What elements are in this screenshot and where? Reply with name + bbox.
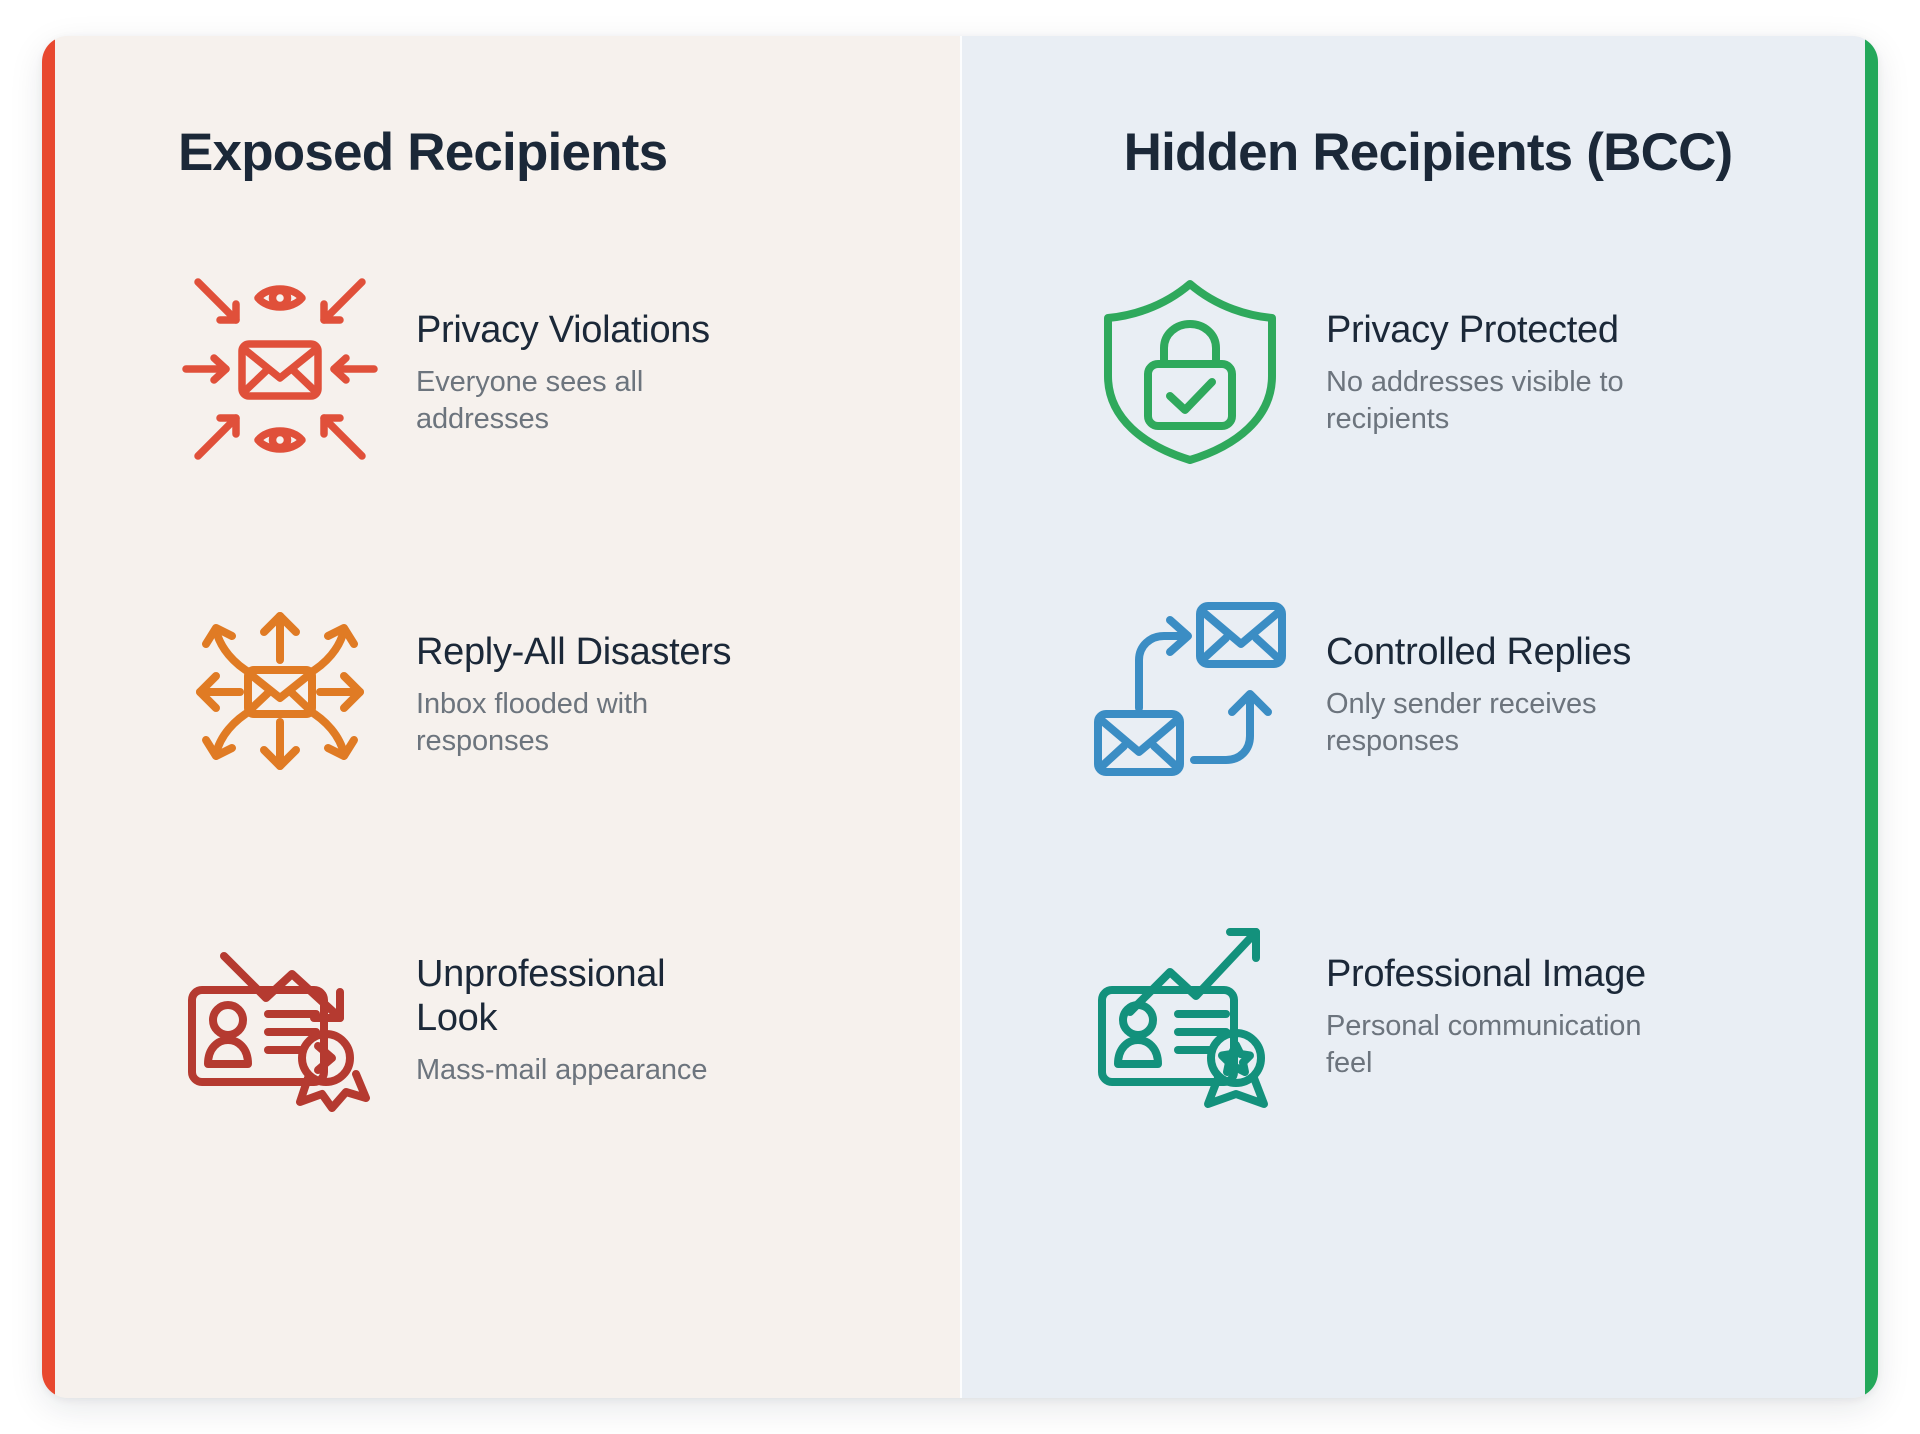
infographic-canvas: Exposed Recipients — [0, 0, 1920, 1434]
feature-description: Personal communication feel — [1326, 1008, 1656, 1082]
comparison-card: Exposed Recipients — [42, 36, 1878, 1398]
shield-lock-check-icon — [1090, 268, 1290, 468]
feature-title: Controlled Replies — [1326, 630, 1656, 674]
feature-description: Inbox flooded with responses — [416, 686, 746, 760]
feature-text-block: Professional Image Personal communicatio… — [1326, 912, 1656, 1082]
right-panel-title: Hidden Recipients (BCC) — [1058, 124, 1808, 182]
feature-text-block: Unprofessional Look Mass-mail appearance — [416, 912, 746, 1089]
feature-description: No addresses visible to recipients — [1326, 364, 1656, 438]
feature-description: Only sender receives responses — [1326, 686, 1656, 760]
feature-text-block: Privacy Violations Everyone sees all add… — [416, 268, 746, 438]
feature-description: Mass-mail appearance — [416, 1052, 746, 1089]
feature-title: Privacy Violations — [416, 308, 746, 352]
right-feature-list: Privacy Protected No addresses visible t… — [1058, 268, 1808, 1234]
feature-reply-all-disasters: Reply-All Disasters Inbox flooded with r… — [120, 590, 890, 790]
two-envelopes-cycle-arrows-icon — [1090, 590, 1290, 790]
left-feature-list: Privacy Violations Everyone sees all add… — [120, 268, 890, 1234]
left-accent-bar — [42, 36, 55, 1398]
feature-privacy-violations: Privacy Violations Everyone sees all add… — [120, 268, 890, 468]
id-card-rising-arrow-award-badge-icon — [1090, 912, 1290, 1112]
feature-title: Professional Image — [1326, 952, 1656, 996]
feature-text-block: Privacy Protected No addresses visible t… — [1326, 268, 1656, 438]
feature-description: Everyone sees all addresses — [416, 364, 746, 438]
feature-professional-image: Professional Image Personal communicatio… — [1058, 912, 1808, 1112]
left-panel-title: Exposed Recipients — [120, 124, 890, 182]
feature-title: Privacy Protected — [1326, 308, 1656, 352]
envelope-with-radiating-reply-arrows-icon — [180, 590, 380, 790]
right-accent-bar — [1865, 36, 1878, 1398]
exposed-recipients-panel: Exposed Recipients — [42, 36, 960, 1398]
hidden-recipients-panel: Hidden Recipients (BCC) — [960, 36, 1878, 1398]
feature-text-block: Reply-All Disasters Inbox flooded with r… — [416, 590, 746, 760]
envelope-with-eyes-and-inward-arrows-icon — [180, 268, 380, 468]
feature-unprofessional-look: Unprofessional Look Mass-mail appearance — [120, 912, 890, 1112]
feature-controlled-replies: Controlled Replies Only sender receives … — [1058, 590, 1808, 790]
feature-title: Reply-All Disasters — [416, 630, 746, 674]
feature-title: Unprofessional Look — [416, 952, 746, 1040]
feature-privacy-protected: Privacy Protected No addresses visible t… — [1058, 268, 1808, 468]
panel-divider — [960, 36, 962, 1398]
id-card-declining-arrow-broken-badge-icon — [180, 912, 380, 1112]
feature-text-block: Controlled Replies Only sender receives … — [1326, 590, 1656, 760]
